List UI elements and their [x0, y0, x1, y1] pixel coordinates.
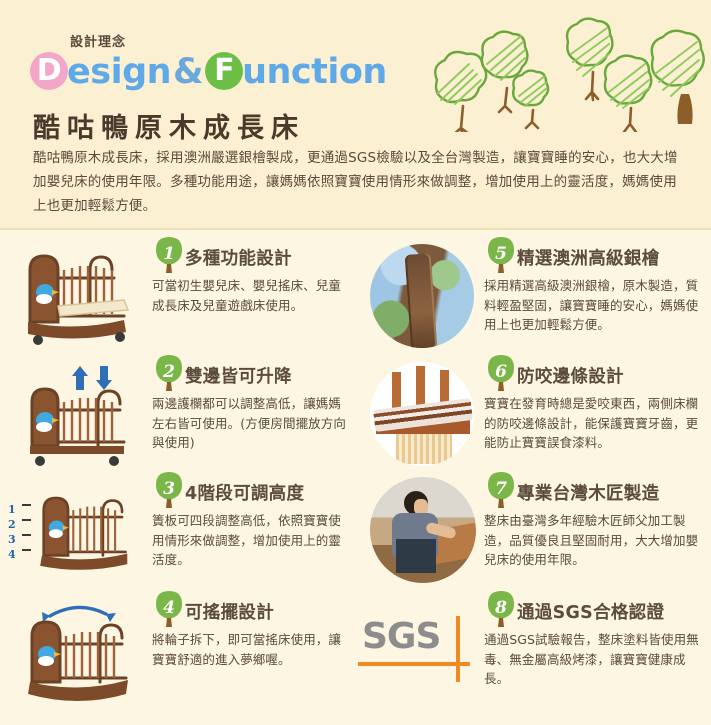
feature-item-3: 1 2 3 4: [0, 475, 355, 593]
logo-d-badge: D: [30, 52, 68, 90]
sgs-vertical-rule: [456, 616, 460, 682]
feature-2-body: 2 雙邊皆可升降 兩邊護欄都可以調整高低，讓媽媽左右皆可使用。(方便房間擺放方向…: [152, 358, 352, 453]
feature-3-body: 3 4階段可調高度 簀板可四段調整高低，依照寶寶使用情形來做調整，增加使用上的靈…: [152, 475, 352, 570]
arrow-down-icon: [96, 366, 112, 390]
feature-3-media: 1 2 3 4: [6, 475, 146, 589]
feature-8-title: 通過SGS合格認證: [517, 599, 664, 624]
features-left-column: 1 多種功能設計 可當初生嬰兒床、嬰兒搖床、兒童成長床及兒童遊戲床使用。: [0, 232, 355, 725]
feature-item-7: 7 專業台灣木匠製造 整床由臺灣多年經驗木匠師父加工製造，品質優良且堅固耐用，大…: [356, 475, 711, 593]
feature-8-desc: 通過SGS試驗報告，整床塗料皆使用無毒、無金屬高級烤漆，讓寶寶健康成長。: [484, 630, 710, 689]
feature-7-media: [356, 475, 484, 589]
rocking-arrow-icon: [50, 607, 106, 616]
feature-item-4: 4 可搖擺設計 將輪子拆下，即可當搖床使用，讓寶寶舒適的進入夢鄉喔。: [0, 594, 355, 712]
feature-1-media: [6, 240, 146, 354]
feature-5-body: 5 精選澳洲高級銀檜 採用精選高級澳洲銀檜，原木製造，質料輕盈堅固，讓寶寶睡的安…: [484, 240, 710, 335]
logo-unction-text: unction: [242, 52, 387, 92]
feature-3-header: 3 4階段可調高度: [152, 475, 352, 509]
feature-item-2: 2 雙邊皆可升降 兩邊護欄都可以調整高低，讓媽媽左右皆可使用。(方便房間擺放方向…: [0, 358, 355, 476]
feature-3-title: 4階段可調高度: [185, 480, 304, 505]
feature-1-desc: 可當初生嬰兒床、嬰兒搖床、兒童成長床及兒童遊戲床使用。: [152, 276, 352, 315]
feature-1-body: 1 多種功能設計 可當初生嬰兒床、嬰兒搖床、兒童成長床及兒童遊戲床使用。: [152, 240, 352, 315]
sgs-logo: SGS: [358, 610, 484, 684]
logo-esign-text: esign: [67, 52, 171, 92]
sgs-horizontal-rule: [358, 662, 470, 666]
design-function-logo: Design&Function: [30, 52, 387, 92]
feature-5-header: 5 精選澳洲高級銀檜: [484, 240, 710, 274]
logo-ampersand: &: [171, 52, 205, 92]
feature-6-desc: 寶寶在發育時總是愛咬東西，兩側床欄的防咬邊條設計，能保護寶寶牙齒，更能防止寶寶誤…: [484, 394, 710, 453]
feature-5-media: [356, 240, 484, 354]
feature-5-number: 5: [484, 240, 518, 270]
page-root: 設計理念 Design&Function 酷咕鴨原木成長床 酷咕鴨原木成長床，採…: [0, 0, 711, 725]
feature-4-body: 4 可搖擺設計 將輪子拆下，即可當搖床使用，讓寶寶舒適的進入夢鄉喔。: [152, 594, 352, 669]
feature-4-media: [6, 594, 146, 708]
feature-5-desc: 採用精選高級澳洲銀檜，原木製造，質料輕盈堅固，讓寶寶睡的安心，媽媽使用上也更加輕…: [484, 276, 710, 335]
intro-paragraph: 酷咕鴨原木成長床，採用澳洲嚴選銀檜製成，更通過SGS檢驗以及全台灣製造，讓寶寶睡…: [33, 146, 681, 218]
feature-4-number: 4: [152, 594, 186, 624]
feature-6-number: 6: [484, 358, 518, 388]
page-title: 酷咕鴨原木成長床: [33, 106, 305, 145]
feature-7-desc: 整床由臺灣多年經驗木匠師父加工製造，品質優良且堅固耐用，大大增加嬰兒床的使用年限…: [484, 511, 710, 570]
sgs-logo-text: SGS: [362, 616, 440, 657]
crib-photo-updown-arrows: [14, 362, 138, 466]
features-grid: 1 多種功能設計 可當初生嬰兒床、嬰兒搖床、兒童成長床及兒童遊戲床使用。: [0, 232, 711, 725]
feature-1-title: 多種功能設計: [185, 245, 292, 270]
tree-trunk-photo: [370, 244, 474, 348]
feature-7-header: 7 專業台灣木匠製造: [484, 475, 710, 509]
feature-item-1: 1 多種功能設計 可當初生嬰兒床、嬰兒搖床、兒童成長床及兒童遊戲床使用。: [0, 240, 355, 358]
feature-8-header: 8 通過SGS合格認證: [484, 594, 710, 628]
feature-5-title: 精選澳洲高級銀檜: [517, 245, 659, 270]
feature-8-body: 8 通過SGS合格認證 通過SGS試驗報告，整床塗料皆使用無毒、無金屬高級烤漆，…: [484, 594, 710, 689]
feature-item-5: 5 精選澳洲高級銀檜 採用精選高級澳洲銀檜，原木製造，質料輕盈堅固，讓寶寶睡的安…: [356, 240, 711, 358]
crib-photo-basic: [14, 244, 138, 348]
feature-4-title: 可搖擺設計: [185, 599, 274, 624]
rail-mesh: [396, 434, 452, 464]
feature-8-number: 8: [484, 594, 518, 624]
feature-3-number: 3: [152, 475, 186, 505]
feature-7-body: 7 專業台灣木匠製造 整床由臺灣多年經驗木匠師父加工製造，品質優良且堅固耐用，大…: [484, 475, 710, 570]
feature-2-number: 2: [152, 358, 186, 388]
feature-6-header: 6 防咬邊條設計: [484, 358, 710, 392]
rocking-arrow-head-icon: [106, 613, 116, 622]
feature-4-header: 4 可搖擺設計: [152, 594, 352, 628]
crib-photo-levels: [28, 479, 136, 583]
feature-1-number: 1: [152, 240, 186, 270]
feature-2-desc: 兩邊護欄都可以調整高低，讓媽媽左右皆可使用。(方便房間擺放方向與使用): [152, 394, 352, 453]
header-band: 設計理念 Design&Function 酷咕鴨原木成長床 酷咕鴨原木成長床，採…: [0, 0, 711, 230]
craftsman-photo: [370, 477, 476, 583]
feature-6-body: 6 防咬邊條設計 寶寶在發育時總是愛咬東西，兩側床欄的防咬邊條設計，能保護寶寶牙…: [484, 358, 710, 453]
feature-6-title: 防咬邊條設計: [517, 363, 624, 388]
feature-2-media: [6, 358, 146, 472]
craftsman-apron: [396, 539, 436, 573]
teething-rail-photo: [370, 362, 474, 466]
feature-2-title: 雙邊皆可升降: [185, 363, 292, 388]
feature-item-8: SGS 8 通過SGS合格認證 通過SGS試驗報告，整床塗料皆使用: [356, 594, 711, 712]
logo-f-badge: F: [205, 52, 243, 90]
feature-1-header: 1 多種功能設計: [152, 240, 352, 274]
feature-2-header: 2 雙邊皆可升降: [152, 358, 352, 392]
feature-6-media: [356, 358, 484, 472]
features-right-column: 5 精選澳洲高級銀檜 採用精選高級澳洲銀檜，原木製造，質料輕盈堅固，讓寶寶睡的安…: [356, 232, 711, 725]
arrow-up-icon: [72, 366, 88, 390]
feature-7-title: 專業台灣木匠製造: [517, 480, 659, 505]
eyebrow-label: 設計理念: [70, 31, 126, 50]
feature-item-6: 6 防咬邊條設計 寶寶在發育時總是愛咬東西，兩側床欄的防咬邊條設計，能保護寶寶牙…: [356, 358, 711, 476]
feature-8-media: SGS: [356, 594, 484, 708]
crib-photo-rocking-arrow: [14, 598, 138, 702]
sketch-trees-icon: [415, 2, 705, 132]
feature-4-desc: 將輪子拆下，即可當搖床使用，讓寶寶舒適的進入夢鄉喔。: [152, 630, 352, 669]
feature-7-number: 7: [484, 475, 518, 505]
feature-3-desc: 簀板可四段調整高低，依照寶寶使用情形來做調整，增加使用上的靈活度。: [152, 511, 352, 570]
